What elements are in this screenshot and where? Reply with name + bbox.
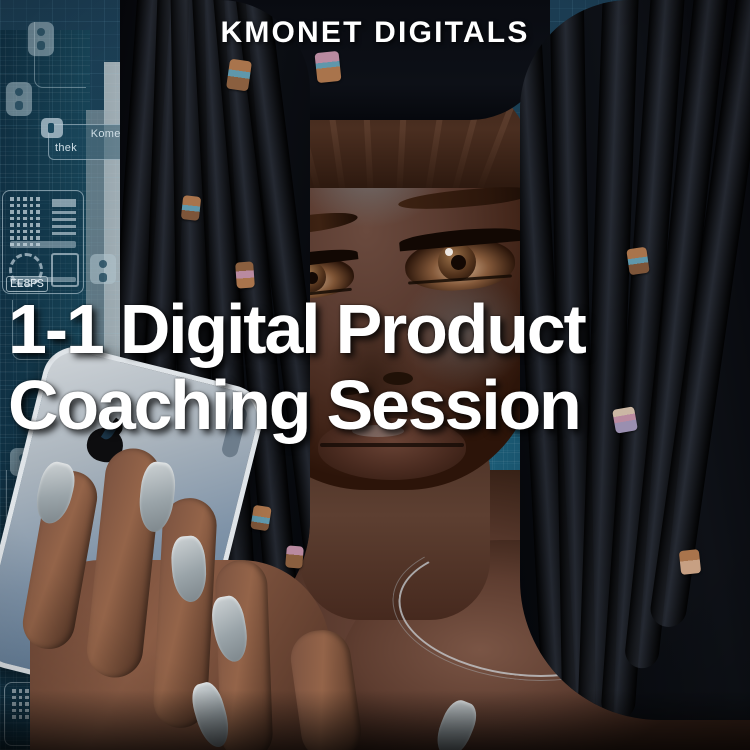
bottom-fade: [0, 690, 750, 750]
brand-title: KMONET DIGITALS: [0, 16, 750, 50]
hair-bead-6: [285, 545, 304, 568]
headline-line-2: Coaching Session: [8, 372, 750, 439]
hair-bead-3: [181, 195, 201, 221]
pupil-right: [451, 255, 466, 270]
hair-bead-1: [226, 59, 252, 92]
eye-glint-right: [445, 248, 453, 256]
hair-bead-4: [235, 261, 255, 288]
hair-bead-9: [679, 549, 701, 575]
hair-bead-5: [250, 505, 272, 532]
hair-bead-7: [626, 247, 649, 276]
headline-line-1: 1-1 Digital Product: [8, 296, 750, 363]
hair-bead-2: [314, 51, 341, 83]
poster-canvas: Komet thek EE8PS 2019: [0, 0, 750, 750]
